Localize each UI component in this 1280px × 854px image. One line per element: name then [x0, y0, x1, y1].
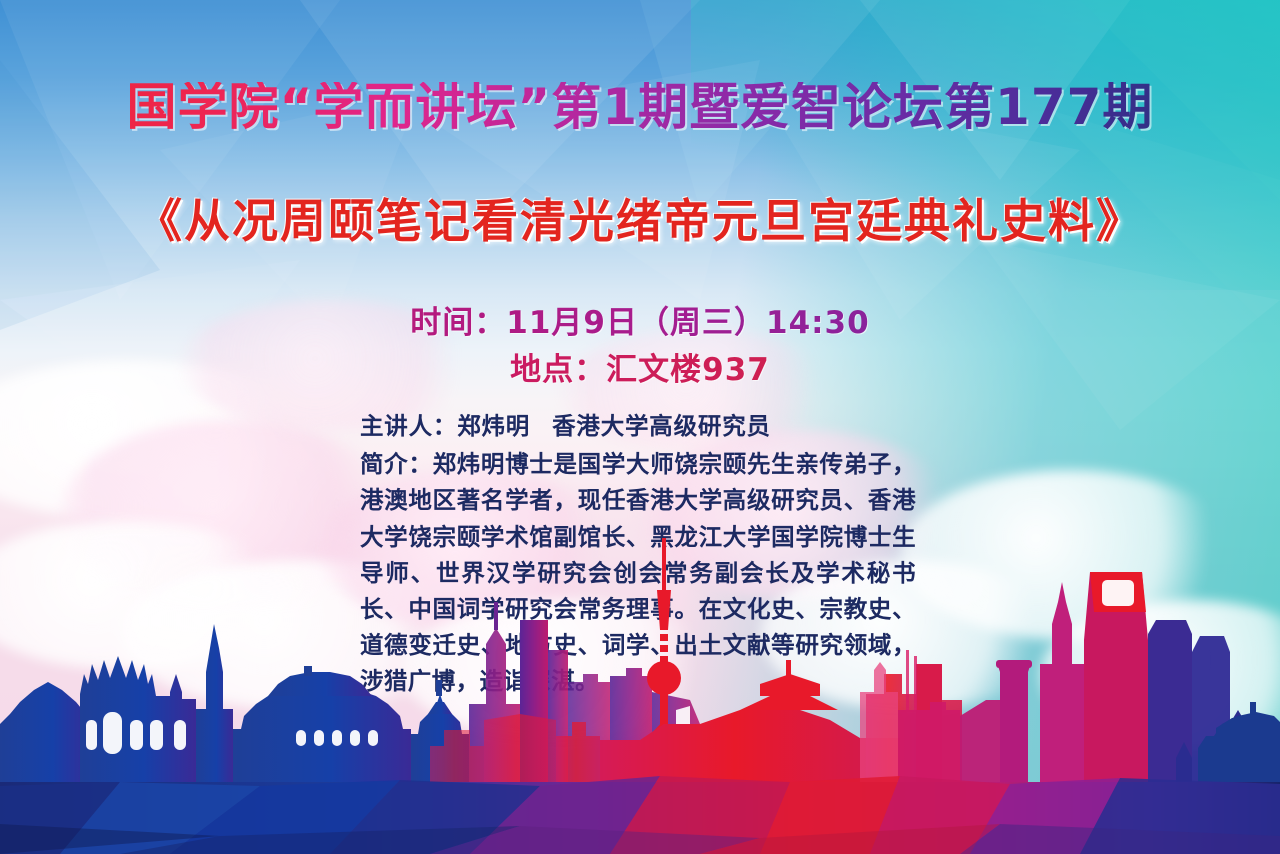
- speaker-name: 郑炜明: [457, 412, 530, 440]
- speaker-affiliation: 香港大学高级研究员: [552, 412, 771, 440]
- shanghai-world-financial-center: [1084, 572, 1148, 784]
- lecture-subtitle: 《从况周颐笔记看清光绪帝元旦宫廷典礼史料》: [0, 196, 1280, 247]
- speaker-label: 主讲人：: [360, 412, 457, 440]
- event-location: 地点：汇文楼937: [0, 347, 1280, 394]
- speaker-line: 主讲人：郑炜明香港大学高级研究员: [360, 408, 916, 444]
- skyline-left-blue: [0, 624, 469, 784]
- bio-label: 简介：: [360, 450, 433, 478]
- city-skyline-graphic: [0, 524, 1280, 854]
- event-time: 时间：11月9日（周三）14:30: [0, 300, 1280, 347]
- event-meta: 时间：11月9日（周三）14:30 地点：汇文楼937: [0, 300, 1280, 394]
- page-title: 国学院“学而讲坛”第1期暨爱智论坛第177期: [0, 82, 1280, 132]
- poster-canvas: 国学院“学而讲坛”第1期暨爱智论坛第177期 《从况周颐笔记看清光绪帝元旦宫廷典…: [0, 0, 1280, 854]
- skyline-foreground-polygons: [0, 776, 1280, 854]
